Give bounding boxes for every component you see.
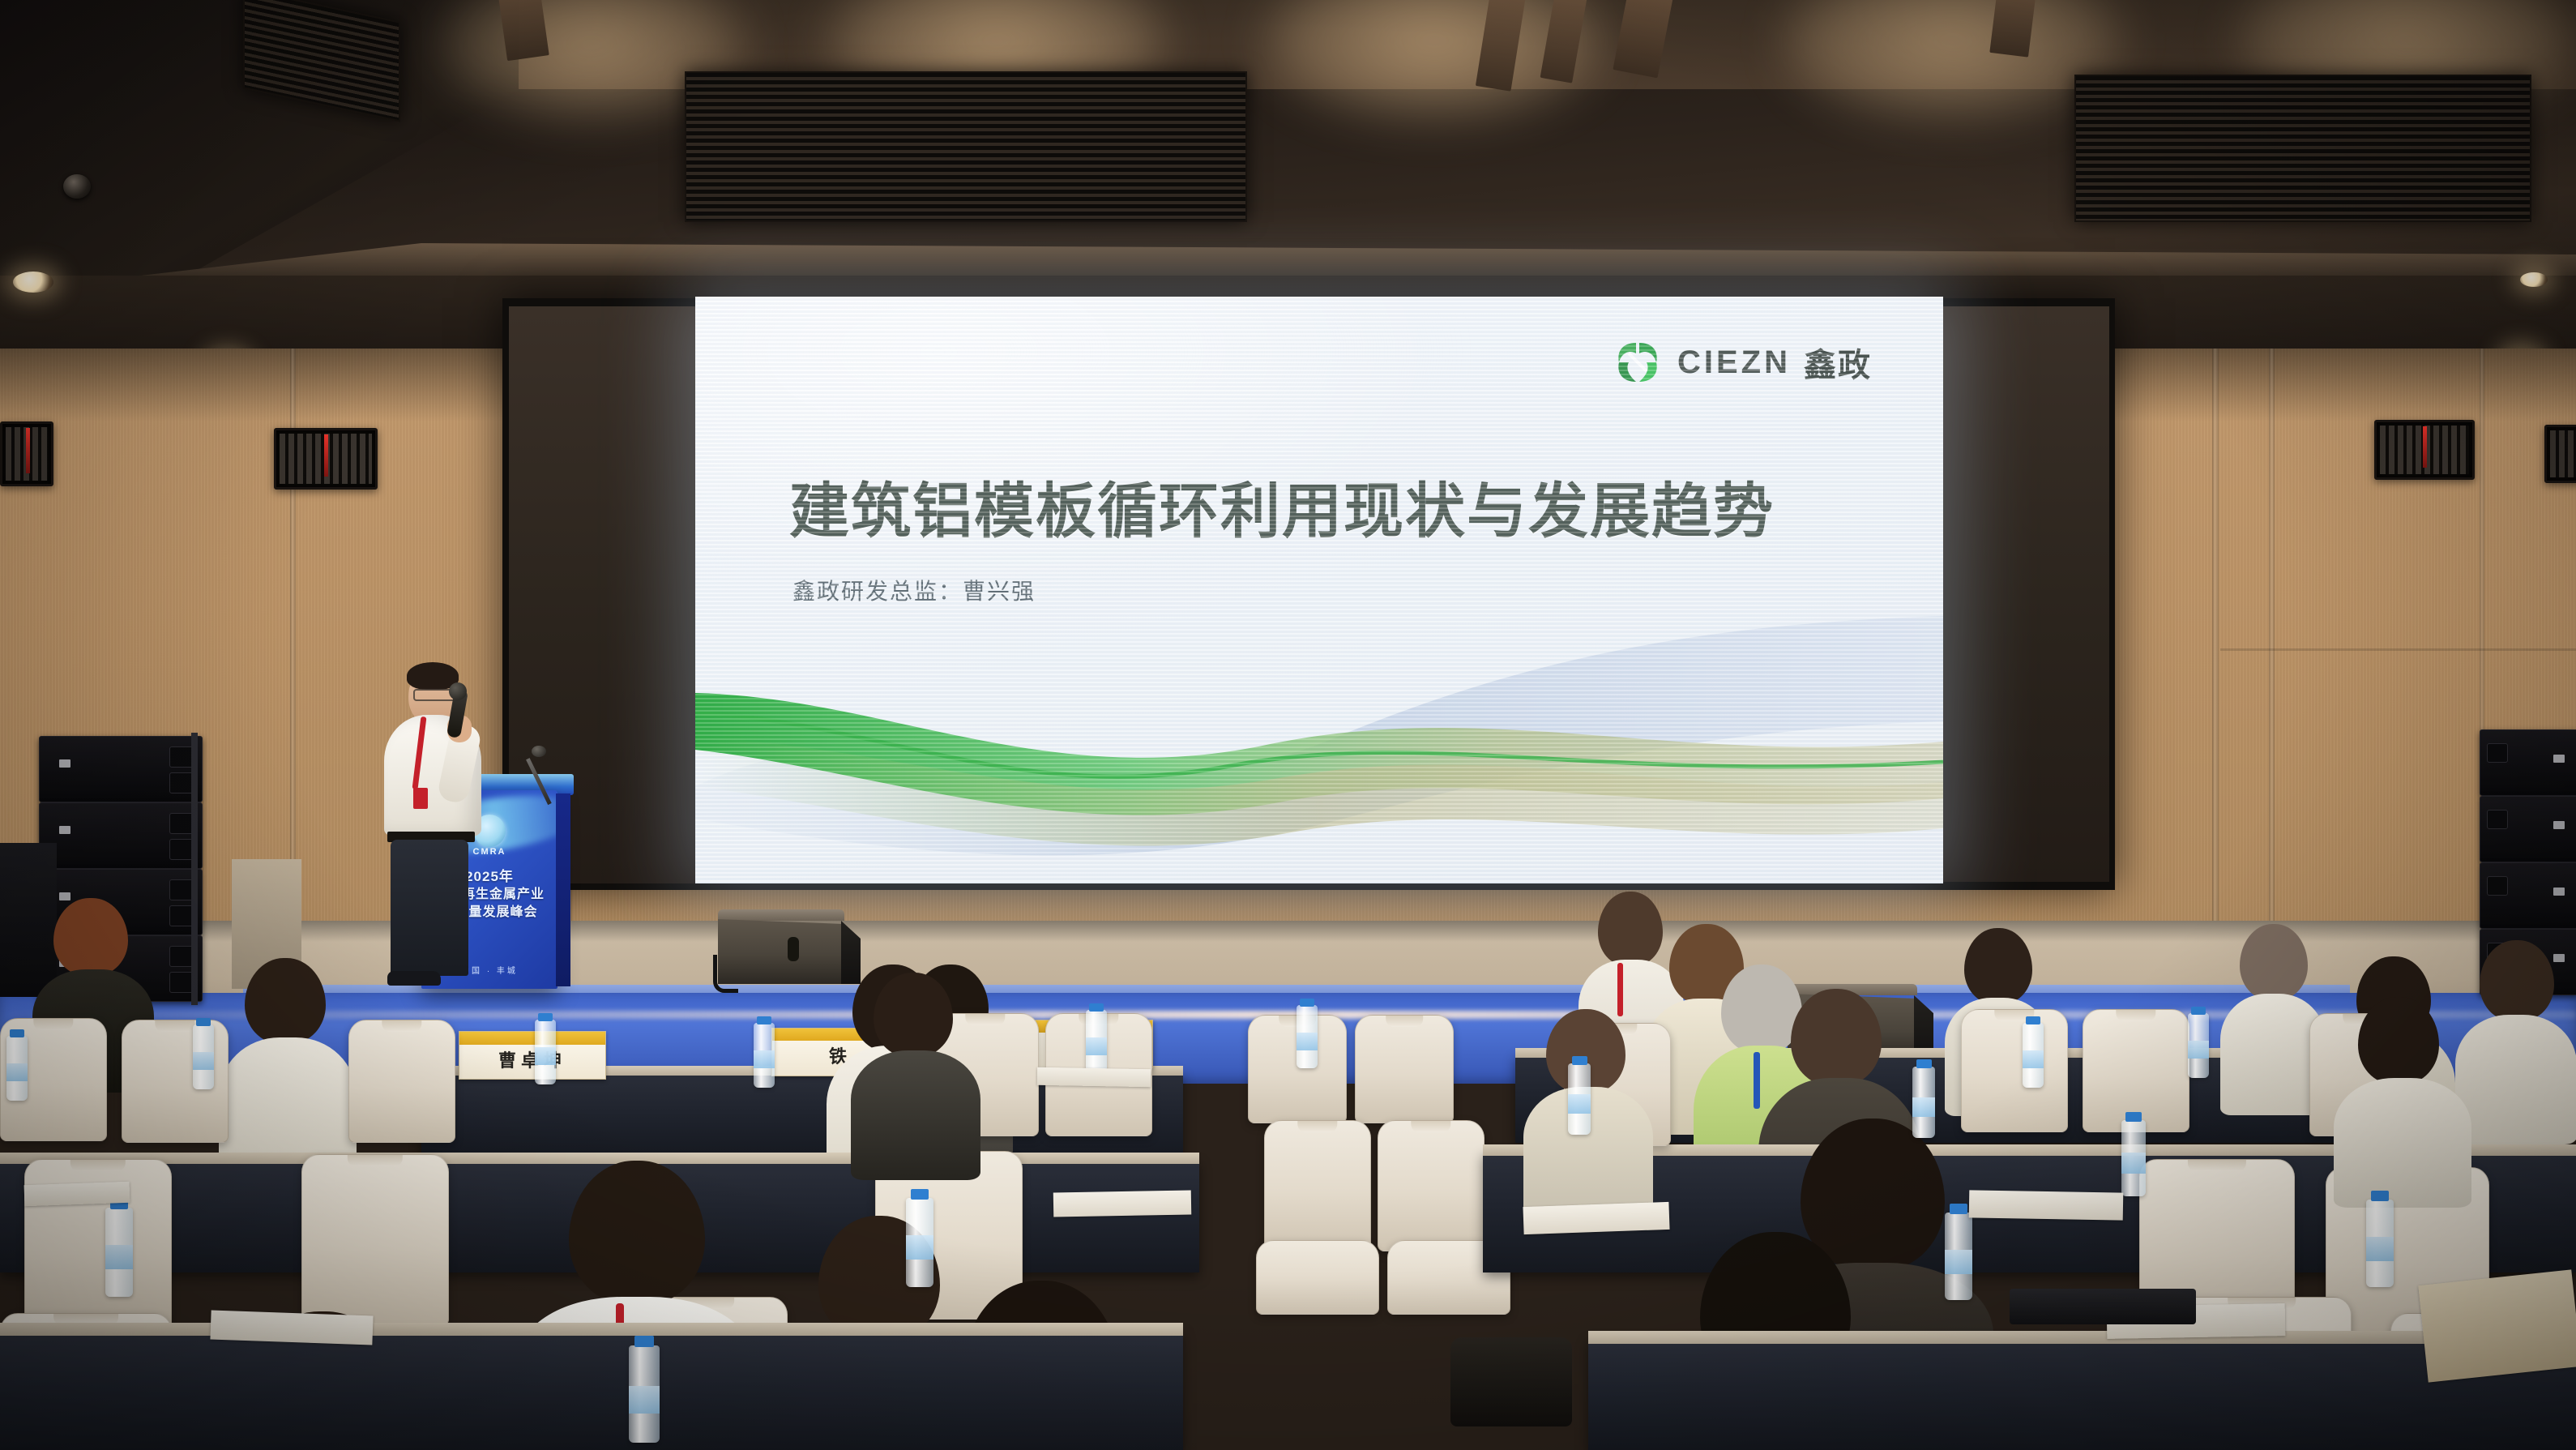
- handout-paper: [210, 1311, 373, 1345]
- water-bottle: [193, 1024, 214, 1089]
- water-bottle: [6, 1036, 28, 1101]
- wall-sconce: [0, 421, 53, 486]
- name-card-name: 曹卓坤: [459, 1045, 605, 1077]
- wall-sconce: [274, 428, 378, 490]
- line-array-box: [2480, 729, 2576, 796]
- water-bottle: [535, 1020, 556, 1084]
- floor-bag: [1450, 1337, 1572, 1426]
- name-card: 曹卓坤: [459, 1031, 606, 1080]
- ceiling-downlight: [2520, 272, 2548, 287]
- person-head: [569, 1161, 705, 1305]
- person-torso: [851, 1050, 980, 1180]
- handout-paper: [1053, 1191, 1191, 1217]
- ciezn-pinwheel-icon: [1611, 336, 1664, 389]
- handout-paper: [1523, 1202, 1669, 1234]
- water-bottle: [1945, 1213, 1972, 1300]
- water-bottle: [2366, 1200, 2394, 1287]
- audience-table-top: [0, 1323, 1183, 1336]
- person-head: [2240, 924, 2308, 1000]
- person-head: [2358, 997, 2439, 1084]
- person-head: [1964, 928, 2032, 1004]
- audience-chair: [1264, 1120, 1371, 1251]
- audience-person: [2334, 997, 2471, 1200]
- wall-horizontal-seam: [2220, 648, 2576, 651]
- laptop-device: [2010, 1289, 2196, 1324]
- ceiling-air-grille: [685, 71, 1247, 222]
- water-bottle: [2188, 1013, 2209, 1078]
- brand-latin-name: CIEZN: [1677, 344, 1791, 381]
- ceiling-security-camera-icon: [63, 174, 91, 199]
- water-bottle: [2121, 1120, 2146, 1196]
- line-array-box: [39, 736, 203, 802]
- microphone-grille-icon: [449, 682, 467, 700]
- podium-side-panel: [556, 793, 570, 986]
- brand-chinese-name: 鑫政: [1804, 339, 1872, 386]
- line-array-box: [2480, 796, 2576, 862]
- water-bottle: [1297, 1005, 1318, 1068]
- ceiling-downlight: [13, 272, 53, 293]
- person-head: [1791, 989, 1882, 1086]
- person-torso: [2455, 1015, 2576, 1144]
- screen-side-panel-right: [1941, 306, 2109, 882]
- audience-person: [2455, 940, 2576, 1135]
- presenter: [366, 665, 496, 989]
- line-array-box: [2480, 862, 2576, 929]
- audience-chair: [1378, 1120, 1485, 1251]
- ceiling-air-grille: [2074, 75, 2531, 222]
- audience-chair: [1355, 1015, 1454, 1123]
- wall-seam: [2212, 349, 2219, 965]
- wall-sconce: [2374, 420, 2475, 480]
- handout-paper: [1969, 1190, 2124, 1220]
- line-array-rigging-bar: [191, 733, 198, 1005]
- water-bottle: [1568, 1063, 1591, 1135]
- audience-table: [0, 1329, 1183, 1450]
- audience-chair: [348, 1020, 455, 1143]
- presenter-badge: [413, 788, 428, 809]
- water-bottle: [906, 1198, 933, 1287]
- audience-person: [219, 958, 357, 1185]
- gooseneck-microphone-head: [532, 746, 546, 757]
- water-bottle: [629, 1345, 660, 1443]
- water-bottle: [1912, 1067, 1935, 1138]
- handout-paper: [2418, 1269, 2576, 1382]
- person-torso: [2334, 1078, 2471, 1208]
- slide-wave-graphic: [695, 616, 1943, 883]
- audience-person: [851, 973, 980, 1175]
- water-bottle: [2023, 1023, 2044, 1088]
- wall-seam: [2269, 349, 2275, 965]
- monitor-cable: [713, 955, 738, 993]
- led-presentation-screen[interactable]: CIEZN 鑫政 建筑铝模板循环利用现状与发展趋势 鑫政研发总监：曹兴强: [695, 297, 1943, 883]
- presenter-shoe: [387, 971, 441, 986]
- water-bottle: [754, 1023, 775, 1088]
- person-head: [53, 898, 128, 976]
- conference-hall-photo: CIEZN 鑫政 建筑铝模板循环利用现状与发展趋势 鑫政研发总监：曹兴强: [0, 0, 2576, 1450]
- ceiling-beam: [498, 0, 549, 61]
- slide-title: 建筑铝模板循环利用现状与发展趋势: [789, 477, 1775, 545]
- slide-brand-logo: CIEZN 鑫政: [1611, 336, 1872, 389]
- presenter-trousers: [391, 840, 468, 976]
- ceiling-beam: [1989, 0, 2036, 58]
- water-bottle: [105, 1208, 133, 1297]
- person-head: [2480, 940, 2554, 1021]
- person-head: [245, 958, 326, 1044]
- handout-paper: [1037, 1067, 1151, 1087]
- audience-chair: [1961, 1009, 2068, 1132]
- wall-sconce: [2544, 425, 2576, 483]
- person-head: [874, 973, 953, 1057]
- line-array-box: [39, 802, 203, 869]
- slide-subtitle: 鑫政研发总监：曹兴强: [792, 574, 1036, 606]
- handout-paper: [24, 1182, 130, 1207]
- audience-chair: [1256, 1240, 1379, 1315]
- audience-chair: [301, 1154, 449, 1326]
- screen-glare: [695, 297, 1506, 619]
- name-card-header-strip: [459, 1032, 605, 1045]
- water-bottle: [1086, 1010, 1107, 1075]
